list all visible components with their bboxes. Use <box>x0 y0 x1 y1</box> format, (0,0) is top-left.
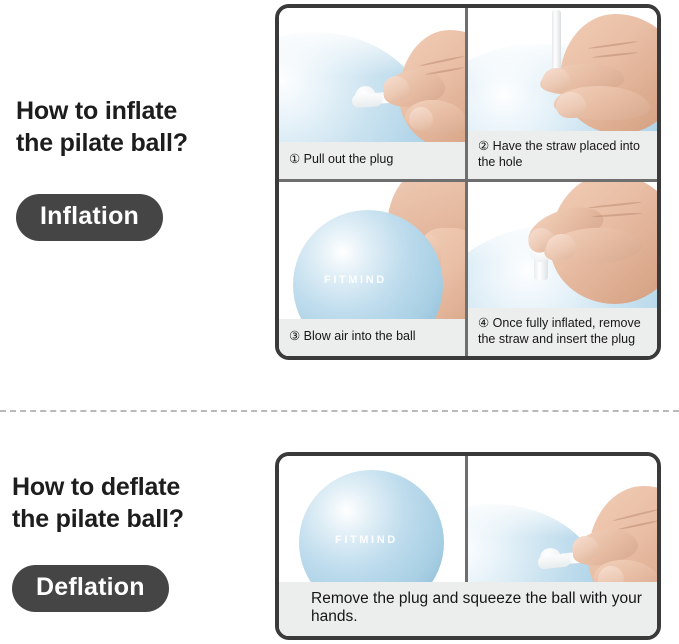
deflation-heading-line1: How to deflate <box>12 472 272 504</box>
step-3-panel: FITMIND ③ Blow air into the ball <box>279 182 468 356</box>
deflation-text-block: How to deflate the pilate ball? Deflatio… <box>0 472 272 612</box>
step-1-panel: ① Pull out the plug <box>279 8 468 182</box>
inflation-heading-line1: How to inflate <box>16 96 272 128</box>
step-3-caption: ③ Blow air into the ball <box>279 319 465 356</box>
inflation-text-block: How to inflate the pilate ball? Inflatio… <box>0 96 272 241</box>
instruction-infographic: How to inflate the pilate ball? Inflatio… <box>0 0 679 644</box>
step-2-panel: ② Have the straw placed into the hole <box>468 8 657 182</box>
deflation-pill-badge: Deflation <box>12 565 169 612</box>
step-4-panel: ④ Once fully inflated, remove the straw … <box>468 182 657 356</box>
inflation-heading-line2: the pilate ball? <box>16 128 272 160</box>
step-1-caption: ① Pull out the plug <box>279 142 465 179</box>
inflation-pill-badge: Inflation <box>16 194 163 241</box>
deflation-heading-line2: the pilate ball? <box>12 504 272 536</box>
deflation-heading: How to deflate the pilate ball? <box>0 472 272 535</box>
inflation-heading: How to inflate the pilate ball? <box>0 96 272 159</box>
deflation-caption: Remove the plug and squeeze the ball wit… <box>279 582 657 636</box>
ball-brand-deflation: FITMIND <box>335 534 398 546</box>
step-4-caption: ④ Once fully inflated, remove the straw … <box>468 308 657 356</box>
step-2-caption: ② Have the straw placed into the hole <box>468 131 657 179</box>
section-divider <box>0 410 679 412</box>
deflation-photo-grid: FITMIND <box>275 452 661 640</box>
ball-brand-step3: FITMIND <box>324 274 387 286</box>
inflation-photo-grid: ① Pull out the plug <box>275 4 661 360</box>
